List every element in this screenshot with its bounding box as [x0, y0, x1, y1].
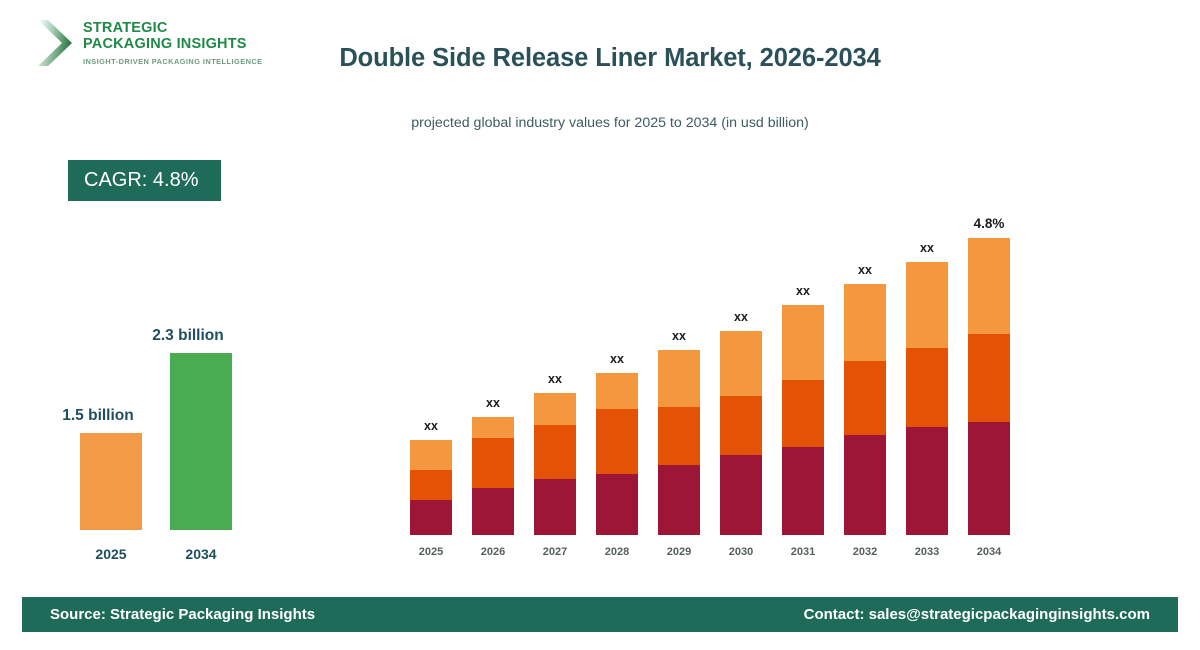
mini-xlabel-2034: 2034: [170, 546, 232, 562]
bar-segment-top: [472, 417, 514, 438]
bar-segment-bottom: [410, 500, 452, 535]
bar-xlabel-2034: 2034: [959, 546, 1019, 558]
bar-xlabel-2026: 2026: [463, 546, 523, 558]
mini-bar-2025: [80, 433, 142, 530]
bar-value-label: xx: [644, 329, 714, 343]
page-title: Double Side Release Liner Market, 2026-2…: [300, 44, 920, 73]
bar-segment-middle: [658, 407, 700, 465]
bar-stack: [596, 373, 638, 535]
bar-segment-middle: [596, 409, 638, 474]
bar-value-label: xx: [830, 263, 900, 277]
bar-stack: [658, 350, 700, 535]
bar-xlabel-2028: 2028: [587, 546, 647, 558]
page-subtitle: projected global industry values for 202…: [300, 115, 920, 131]
bar-segment-middle: [410, 470, 452, 500]
stacked-forecast-chart: xx2025xx2026xx2027xx2028xx2029xx2030xx20…: [400, 190, 1020, 560]
bar-segment-bottom: [720, 455, 762, 535]
bar-xlabel-2025: 2025: [401, 546, 461, 558]
mini-value-2025: 1.5 billion: [43, 407, 153, 425]
brand-logo-text: STRATEGIC PACKAGING INSIGHTS INSIGHT-DRI…: [83, 18, 263, 66]
bar-segment-middle: [968, 334, 1010, 422]
bar-stack: [472, 417, 514, 535]
mini-xlabel-2025: 2025: [80, 546, 142, 562]
bar-xlabel-2027: 2027: [525, 546, 585, 558]
bar-segment-top: [658, 350, 700, 407]
cagr-badge: CAGR: 4.8%: [68, 160, 221, 201]
bar-segment-top: [534, 393, 576, 425]
bar-column: xx2032: [844, 190, 886, 560]
brand-line-2: PACKAGING INSIGHTS: [83, 37, 263, 53]
bar-segment-middle: [534, 425, 576, 479]
chart-page: STRATEGIC PACKAGING INSIGHTS INSIGHT-DRI…: [0, 0, 1200, 650]
bar-segment-top: [720, 331, 762, 396]
bar-xlabel-2031: 2031: [773, 546, 833, 558]
chevron-right-icon: [32, 18, 74, 68]
bar-column: xx2033: [906, 190, 948, 560]
bar-segment-top: [410, 440, 452, 470]
bar-column: 4.8%2034: [968, 190, 1010, 560]
brand-line-1: STRATEGIC: [83, 21, 263, 37]
bar-xlabel-2032: 2032: [835, 546, 895, 558]
bar-value-label: xx: [582, 352, 652, 366]
bar-segment-middle: [844, 361, 886, 435]
bar-segment-bottom: [906, 427, 948, 535]
bar-segment-middle: [720, 396, 762, 455]
bar-segment-bottom: [472, 488, 514, 535]
bar-stack: [782, 305, 824, 535]
bar-column: xx2031: [782, 190, 824, 560]
bar-value-label: xx: [458, 396, 528, 410]
mini-bar-2034: [170, 353, 232, 530]
bar-value-label: xx: [768, 284, 838, 298]
bar-stack: [968, 238, 1010, 535]
bar-stack: [410, 440, 452, 535]
bar-segment-middle: [906, 348, 948, 427]
bar-column: xx2025: [410, 190, 452, 560]
bar-stack: [844, 284, 886, 535]
bar-stack: [720, 331, 762, 535]
cagr-badge-label: CAGR: 4.8%: [84, 169, 198, 192]
bar-segment-bottom: [658, 465, 700, 535]
bar-xlabel-2030: 2030: [711, 546, 771, 558]
bar-column: xx2030: [720, 190, 762, 560]
bar-segment-top: [782, 305, 824, 380]
bar-segment-bottom: [968, 422, 1010, 535]
bar-segment-top: [844, 284, 886, 361]
bar-value-label: 4.8%: [954, 216, 1024, 231]
bar-segment-middle: [782, 380, 824, 447]
bar-column: xx2027: [534, 190, 576, 560]
bar-stack: [906, 262, 948, 535]
bar-xlabel-2029: 2029: [649, 546, 709, 558]
mini-value-2034: 2.3 billion: [133, 327, 243, 345]
bar-value-label: xx: [520, 372, 590, 386]
bar-value-label: xx: [396, 419, 466, 433]
bar-segment-bottom: [844, 435, 886, 535]
bar-xlabel-2033: 2033: [897, 546, 957, 558]
footer-bar: Source: Strategic Packaging Insights Con…: [22, 597, 1178, 632]
bar-column: xx2028: [596, 190, 638, 560]
bar-segment-bottom: [782, 447, 824, 535]
bar-segment-bottom: [534, 479, 576, 535]
bar-segment-top: [968, 238, 1010, 334]
bar-value-label: xx: [706, 310, 776, 324]
footer-contact: Contact: sales@strategicpackaginginsight…: [804, 606, 1150, 623]
bar-segment-middle: [472, 438, 514, 488]
bar-segment-bottom: [596, 474, 638, 535]
bar-column: xx2026: [472, 190, 514, 560]
brand-tagline: INSIGHT-DRIVEN PACKAGING INTELLIGENCE: [83, 57, 263, 66]
endpoint-comparison-chart: 1.5 billion 2.3 billion 2025 2034: [55, 315, 265, 570]
bar-stack: [534, 393, 576, 535]
bar-segment-top: [906, 262, 948, 348]
bar-segment-top: [596, 373, 638, 409]
footer-source: Source: Strategic Packaging Insights: [50, 606, 315, 623]
bar-value-label: xx: [892, 241, 962, 255]
brand-logo: STRATEGIC PACKAGING INSIGHTS INSIGHT-DRI…: [32, 18, 263, 68]
bar-column: xx2029: [658, 190, 700, 560]
